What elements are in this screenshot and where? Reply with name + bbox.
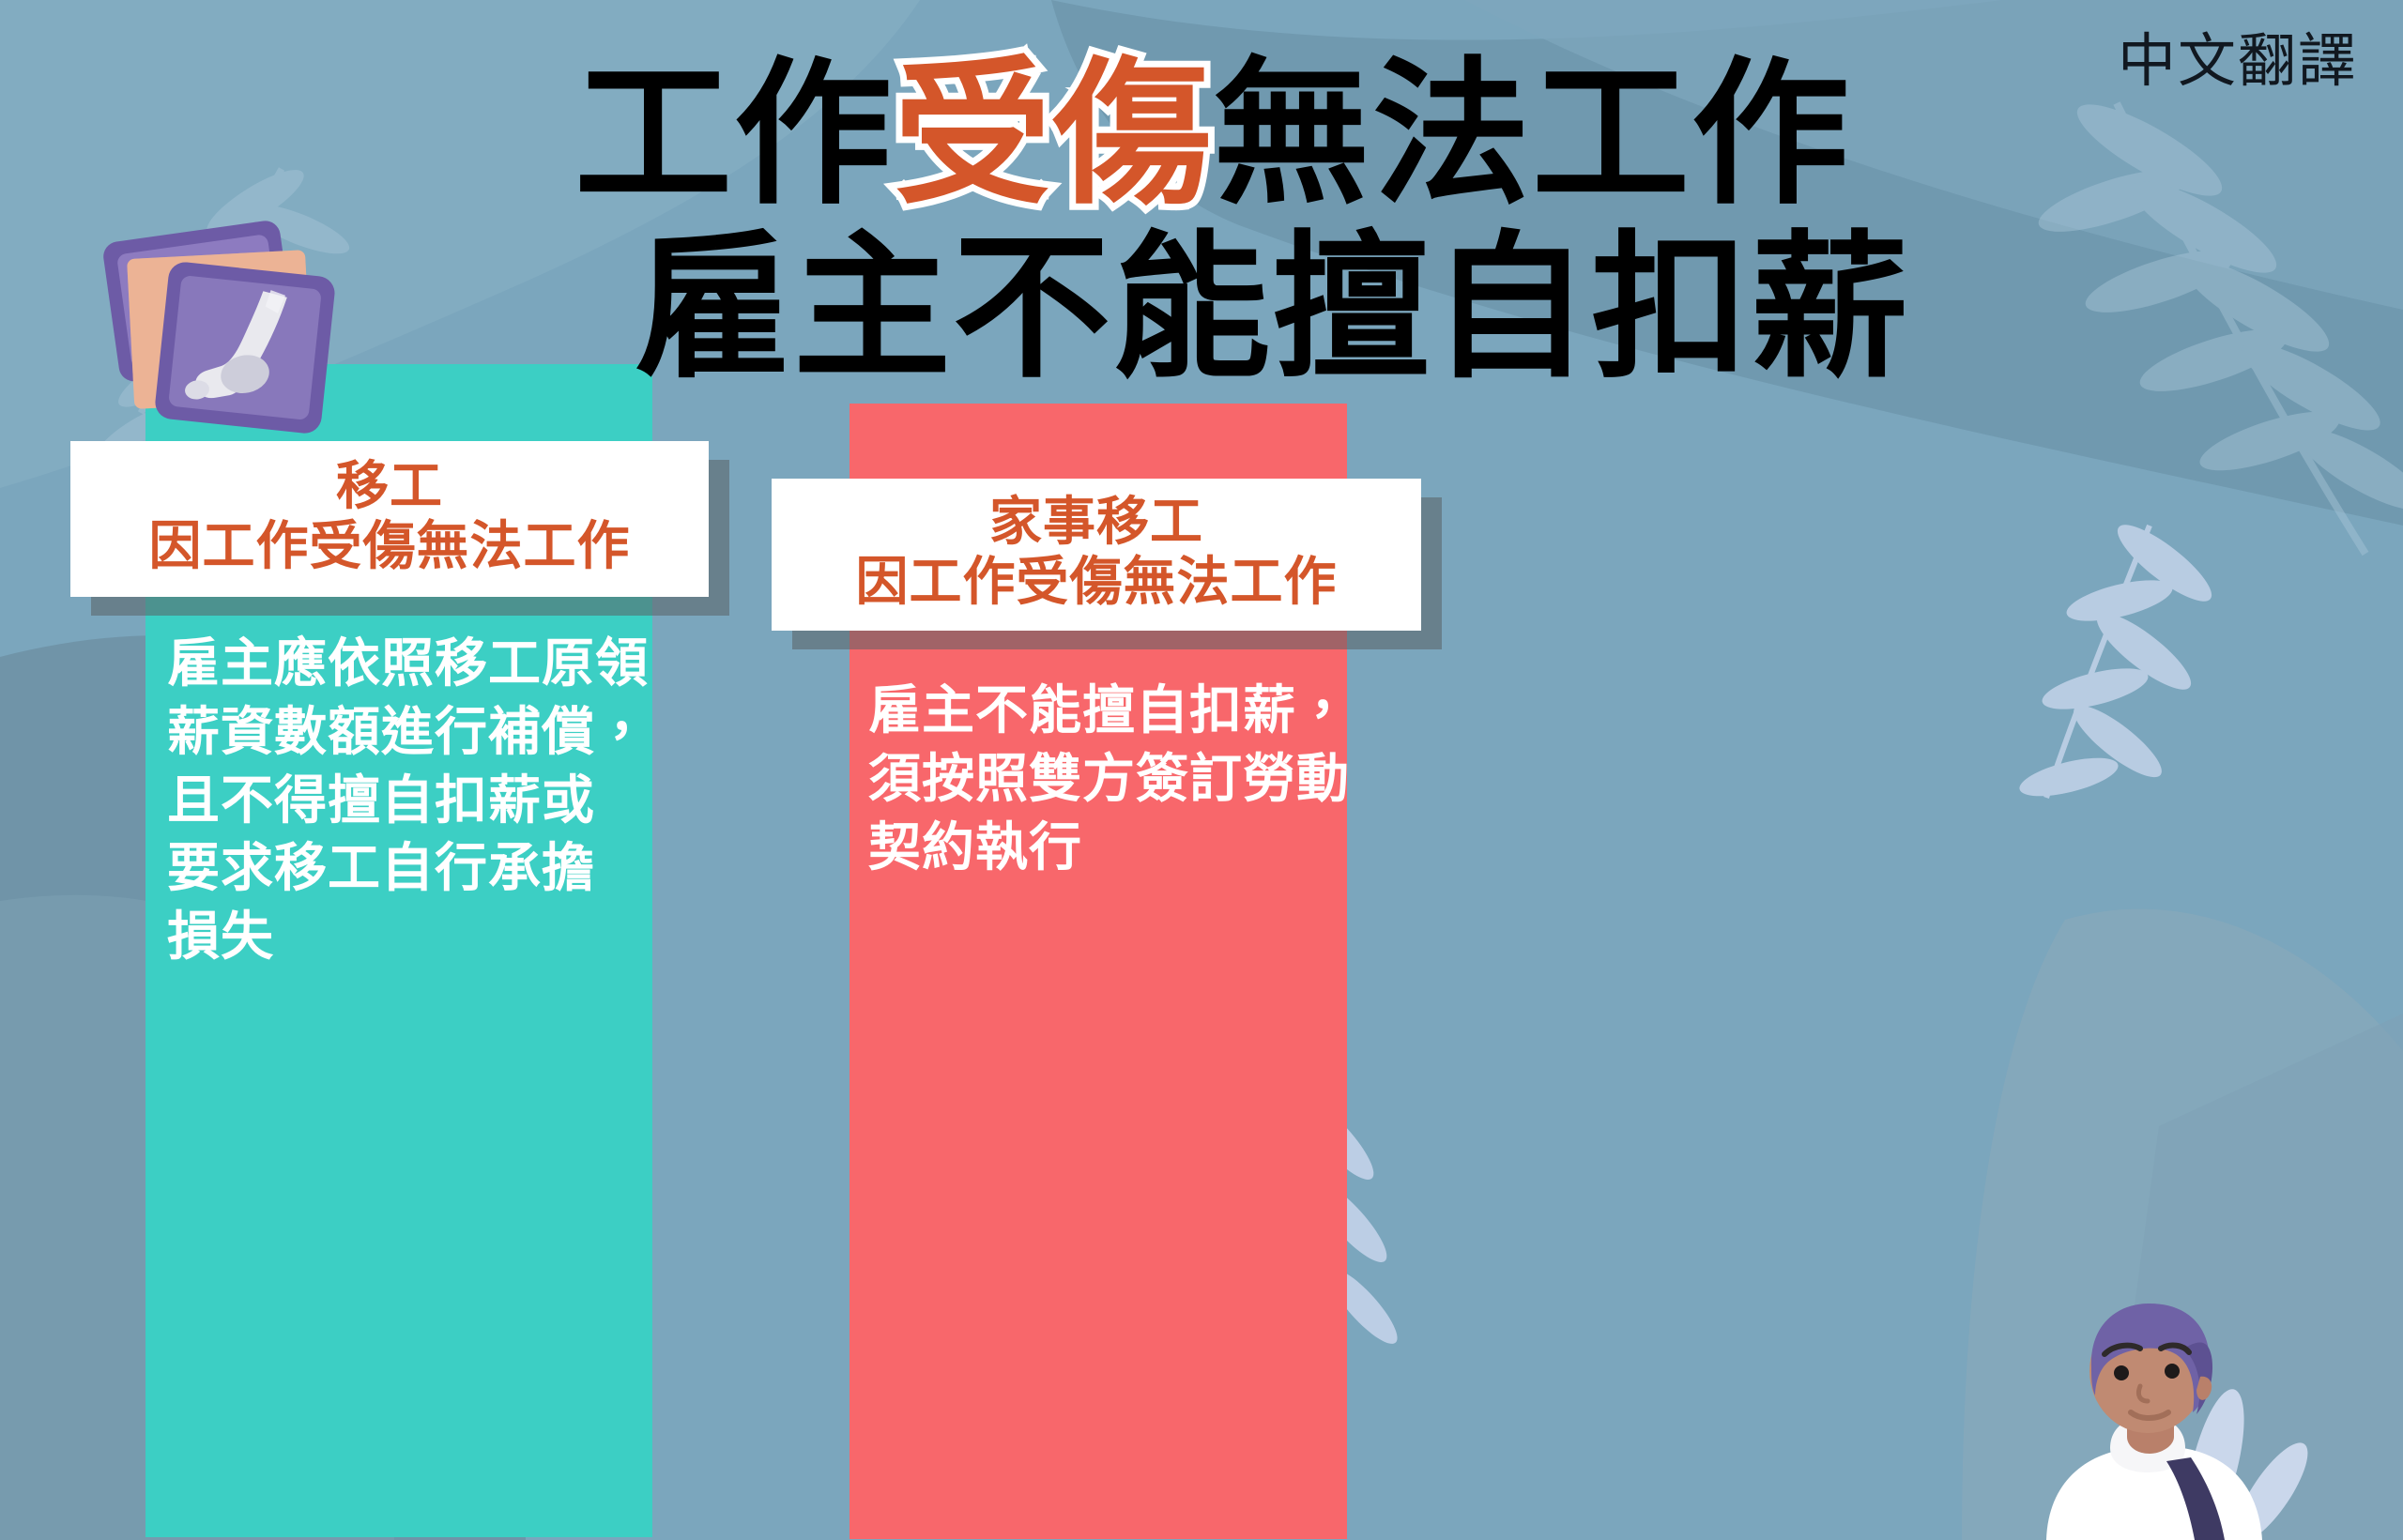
- infographic-poster: 中文翻譯: [0, 0, 2403, 1540]
- card-migrant-worker-heading: 移工 因工作受傷無法工作: [70, 441, 709, 597]
- left-body-line-1: 雇主應依照移工原領: [167, 631, 649, 699]
- card-right-line-1: 家事移工: [989, 493, 1203, 553]
- panel-domestic-migrant-worker-body: 雇主不能擅自扣薪， 須按照雙方簽訂勞動 契約執行: [868, 678, 1350, 882]
- card-left-line-1: 移工: [336, 457, 443, 517]
- right-body-line-2: 須按照雙方簽訂勞動: [868, 746, 1350, 815]
- right-body-line-1: 雇主不能擅自扣薪，: [868, 678, 1350, 746]
- card-right-line-2: 因工作受傷無法工作: [856, 553, 1338, 613]
- xray-film-icon: [81, 206, 362, 441]
- left-body-line-4: 要求移工自行承擔: [167, 835, 649, 904]
- left-body-line-3: 且不得擅自扣薪或: [167, 768, 649, 836]
- right-body-line-3: 契約執行: [868, 815, 1350, 883]
- left-body-line-2: 薪資數額進行補償，: [167, 699, 649, 768]
- translation-label: 中文翻譯: [2118, 13, 2358, 98]
- card-domestic-migrant-worker-heading: 家事移工 因工作受傷無法工作: [772, 479, 1421, 631]
- card-left-line-2: 因工作受傷無法工作: [149, 517, 631, 577]
- person-illustration-icon: [1990, 1296, 2300, 1540]
- panel-migrant-worker-body: 雇主應依照移工原領 薪資數額進行補償， 且不得擅自扣薪或 要求移工自行承擔 損失: [167, 631, 649, 972]
- left-body-line-5: 損失: [167, 904, 649, 972]
